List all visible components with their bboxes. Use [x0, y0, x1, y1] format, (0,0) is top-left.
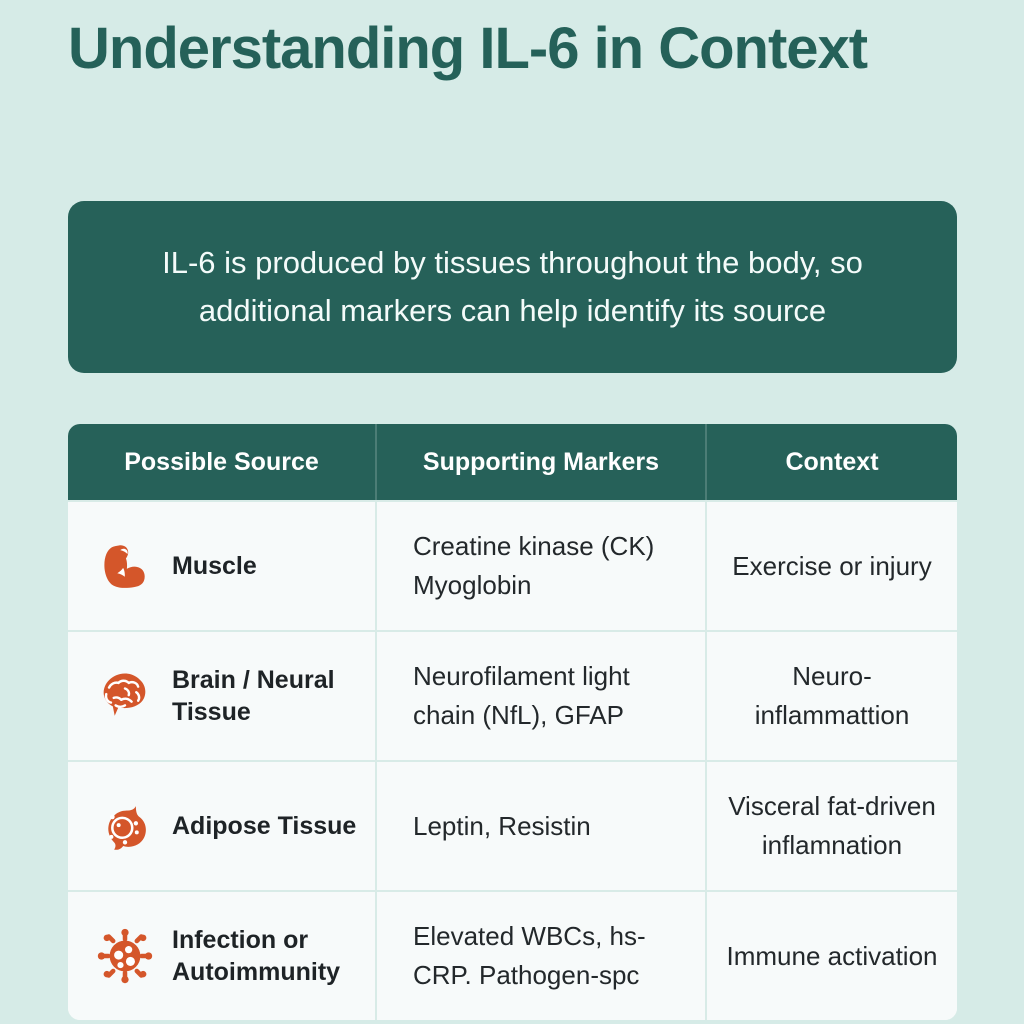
markers-text: Creatine kinase (CK) Myoglobin	[413, 527, 693, 605]
markers-cell: Neurofilament light chain (NfL), GFAP	[377, 632, 707, 760]
source-label: Adipose Tissue	[172, 810, 356, 842]
table-header-row: Possible Source Supporting Markers Conte…	[68, 424, 957, 500]
callout-banner: IL-6 is produced by tissues throughout t…	[68, 201, 957, 373]
source-label: Infection or Autoimmunity	[172, 924, 363, 988]
column-header-possible-source: Possible Source	[68, 424, 377, 500]
source-label: Muscle	[172, 550, 257, 582]
markers-text: Neurofilament light chain (NfL), GFAP	[413, 657, 693, 735]
callout-text: IL-6 is produced by tissues throughout t…	[108, 239, 917, 335]
source-label: Brain / Neural Tissue	[172, 664, 363, 728]
markers-text: Elevated WBCs, hs-CRP. Pathogen-spc	[413, 917, 693, 995]
adipose-cell-icon	[94, 795, 156, 857]
markers-cell: Creatine kinase (CK) Myoglobin	[377, 502, 707, 630]
context-text: Visceral fat-driven inflamnation	[719, 787, 945, 865]
markers-cell: Elevated WBCs, hs-CRP. Pathogen-spc	[377, 892, 707, 1020]
virus-icon	[94, 925, 156, 987]
markers-text: Leptin, Resistin	[413, 807, 591, 846]
table-row: Brain / Neural Tissue Neurofilament ligh…	[68, 630, 957, 760]
source-cell: Brain / Neural Tissue	[68, 632, 377, 760]
table-row: Muscle Creatine kinase (CK) Myoglobin Ex…	[68, 500, 957, 630]
context-text: Exercise or injury	[732, 547, 931, 586]
flexed-bicep-icon	[94, 535, 156, 597]
context-cell: Exercise or injury	[707, 502, 957, 630]
context-cell: Neuro-inflammattion	[707, 632, 957, 760]
page-title: Understanding IL-6 in Context	[68, 16, 898, 83]
context-cell: Immune activation	[707, 892, 957, 1020]
brain-icon	[94, 665, 156, 727]
markers-cell: Leptin, Resistin	[377, 762, 707, 890]
source-cell: Muscle	[68, 502, 377, 630]
context-text: Immune activation	[727, 937, 938, 976]
column-header-context: Context	[707, 424, 957, 500]
table-row: Adipose Tissue Leptin, Resistin Visceral…	[68, 760, 957, 890]
context-cell: Visceral fat-driven inflamnation	[707, 762, 957, 890]
column-header-supporting-markers: Supporting Markers	[377, 424, 707, 500]
source-cell: Adipose Tissue	[68, 762, 377, 890]
table-row: Infection or Autoimmunity Elevated WBCs,…	[68, 890, 957, 1020]
context-text: Neuro-inflammattion	[719, 657, 945, 735]
source-cell: Infection or Autoimmunity	[68, 892, 377, 1020]
source-markers-table: Possible Source Supporting Markers Conte…	[68, 424, 957, 1020]
